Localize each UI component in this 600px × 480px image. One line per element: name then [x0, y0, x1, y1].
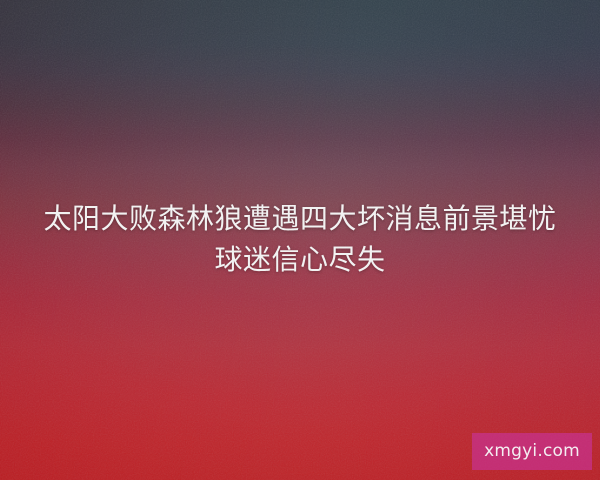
- headline: 太阳大败森林狼遭遇四大坏消息前景堪忧 球迷信心尽失: [0, 198, 600, 280]
- headline-line-2: 球迷信心尽失: [20, 239, 580, 280]
- banner-image: 太阳大败森林狼遭遇四大坏消息前景堪忧 球迷信心尽失 xmgyi.com: [0, 0, 600, 480]
- watermark-label: xmgyi.com: [484, 443, 580, 460]
- headline-line-1: 太阳大败森林狼遭遇四大坏消息前景堪忧: [20, 198, 580, 239]
- watermark-badge: xmgyi.com: [472, 433, 592, 470]
